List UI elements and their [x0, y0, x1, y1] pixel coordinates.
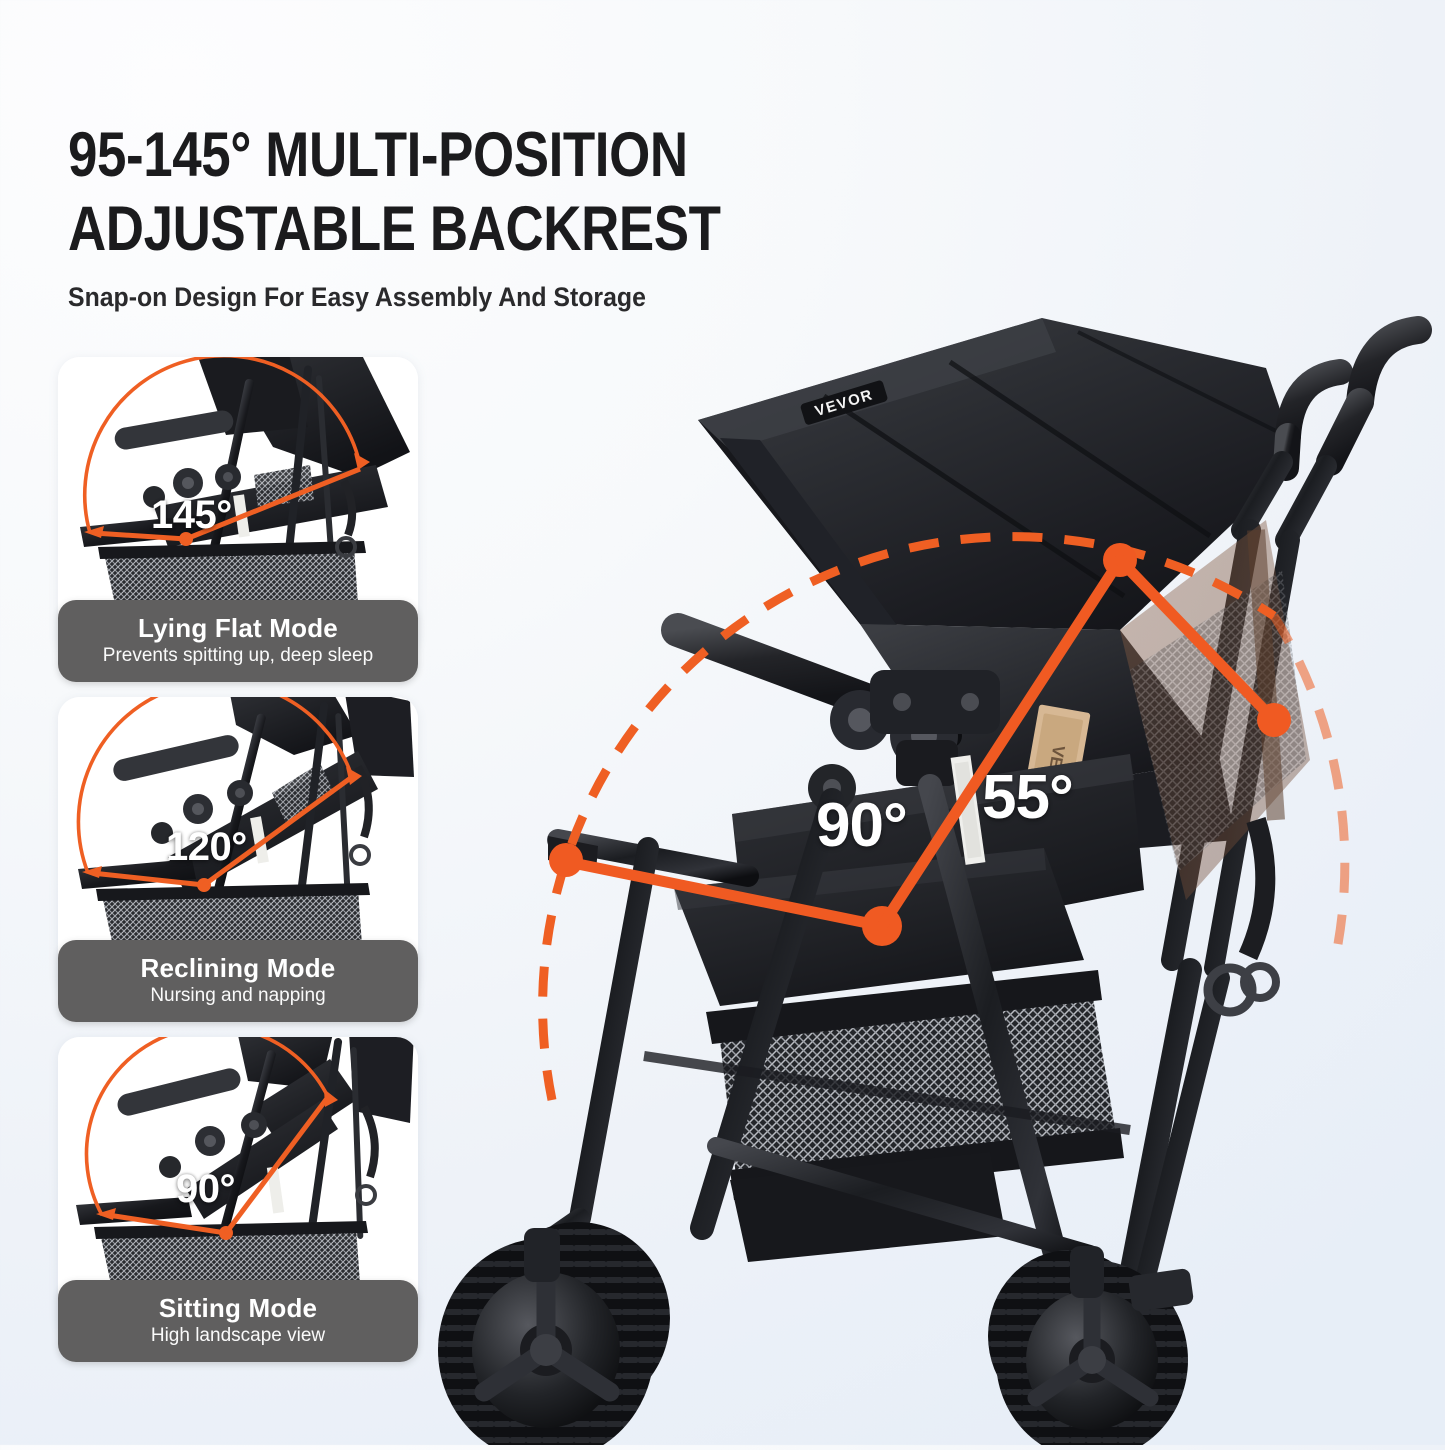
- hero-stroller-illustration: VEVOR VEVOR: [430, 200, 1445, 1445]
- front-wheel-group: [438, 1222, 670, 1445]
- mode-card-subtitle-lying-flat: Prevents spitting up, deep sleep: [103, 643, 373, 669]
- card-angle-value-sitting: 90°: [176, 1167, 235, 1212]
- mode-card-subtitle-sitting: High landscape view: [151, 1323, 325, 1349]
- card-angle-value-lying-flat: 145°: [151, 493, 232, 538]
- headline-line-1: 95-145° MULTI-POSITION: [68, 118, 757, 192]
- hero-angle-value-seat: 90°: [816, 790, 907, 861]
- hero-angle-value-backrest: 55°: [982, 762, 1073, 833]
- mode-card-label-sitting: Sitting Mode High landscape view: [58, 1280, 418, 1362]
- mode-card-label-reclining: Reclining Mode Nursing and napping: [58, 940, 418, 1022]
- rear-wheel-group: [988, 1246, 1194, 1445]
- mode-card-title-lying-flat: Lying Flat Mode: [138, 613, 338, 643]
- mode-card-subtitle-reclining: Nursing and napping: [150, 983, 325, 1009]
- card-angle-value-reclining: 120°: [166, 825, 247, 870]
- mode-card-title-reclining: Reclining Mode: [141, 953, 336, 983]
- mode-card-title-sitting: Sitting Mode: [159, 1293, 317, 1323]
- mode-card-label-lying-flat: Lying Flat Mode Prevents spitting up, de…: [58, 600, 418, 682]
- hero-stroller-photo: VEVOR VEVOR: [430, 200, 1445, 1445]
